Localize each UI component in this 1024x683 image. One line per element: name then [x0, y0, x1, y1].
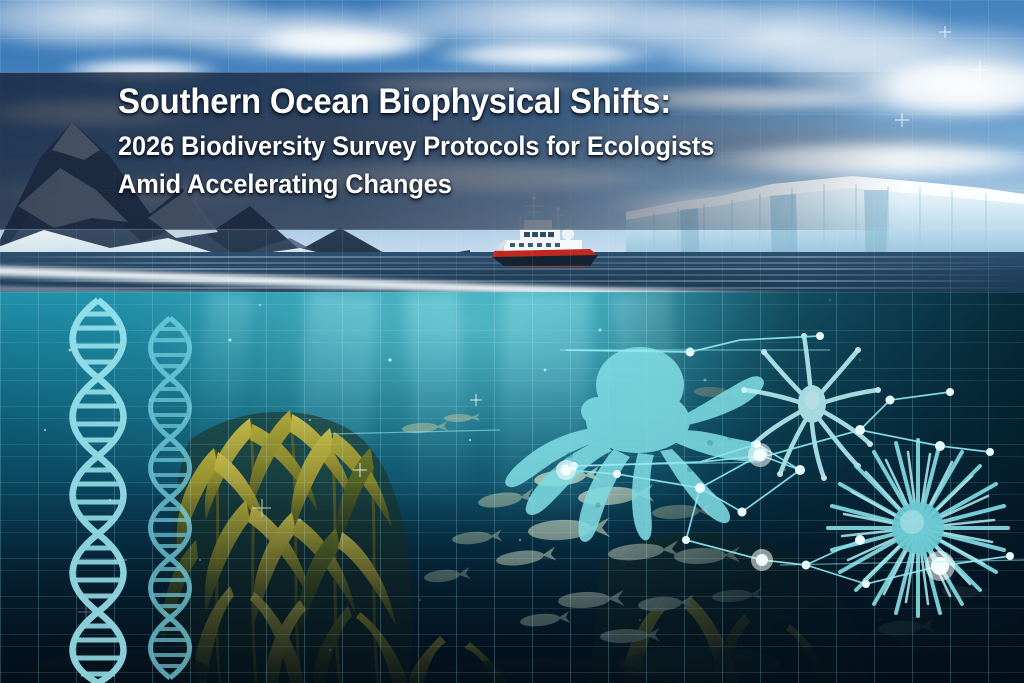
analysis-grid-overlay-underwater	[0, 292, 1024, 683]
page-title-line-1: Southern Ocean Biophysical Shifts:	[118, 80, 870, 125]
title-band-bottom-edge	[0, 229, 780, 230]
title-block: Southern Ocean Biophysical Shifts: 2026 …	[118, 80, 918, 203]
poster-hero-image: Southern Ocean Biophysical Shifts: 2026 …	[0, 0, 1024, 683]
page-title-line-2: 2026 Biodiversity Survey Protocols for E…	[118, 127, 870, 165]
title-band-top-edge	[0, 72, 900, 73]
page-title-line-3: Amid Accelerating Changes	[118, 165, 870, 203]
